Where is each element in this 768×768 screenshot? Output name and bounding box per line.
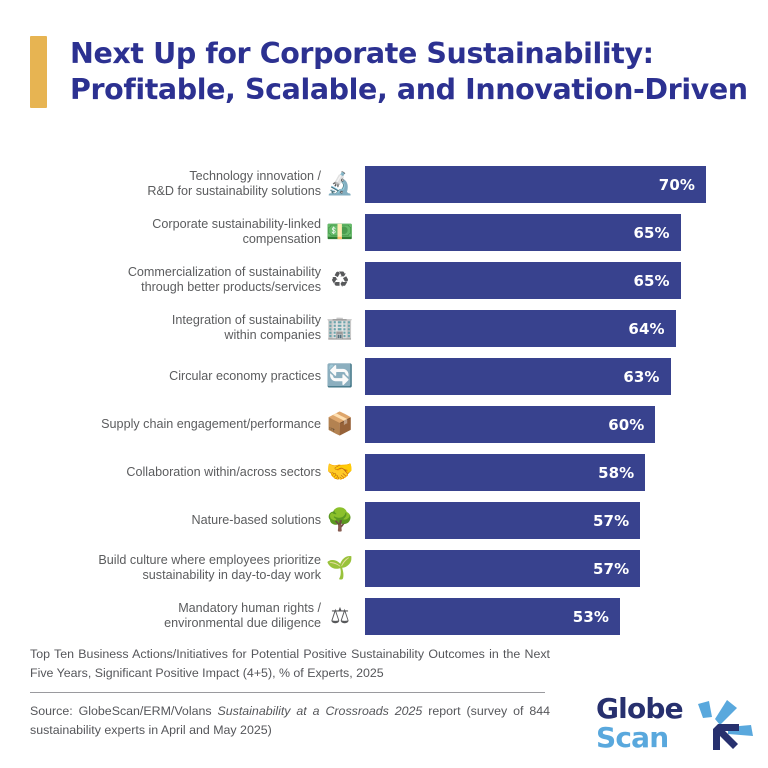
chart-bar-value: 65% [633,272,680,290]
title-block: Next Up for Corporate Sustainability: Pr… [30,36,750,108]
title-accent-bar [30,36,47,108]
source-report-title: Sustainability at a Crossroads 2025 [217,704,422,718]
chart-bar-track: 58% [365,454,768,491]
chart-row: Build culture where employees prioritize… [0,550,768,587]
logo-arrow-burst-icon [692,698,754,756]
chart-subtitle-note: Top Ten Business Actions/Initiatives for… [30,645,550,683]
chart-row: Technology innovation / R&D for sustaina… [0,166,768,203]
chart-bar[interactable]: 63% [365,358,671,395]
package-box-icon: 📦 [325,410,355,440]
logo-word-globe: Globe [596,694,683,723]
chart-row-label: Collaboration within/across sectors [51,465,321,481]
chart-row-label: Nature-based solutions [51,513,321,529]
chart-bar-track: 63% [365,358,768,395]
chart-bar-track: 60% [365,406,768,443]
chart-bar-value: 57% [593,560,640,578]
globescan-wordmark: Globe Scan [596,694,683,752]
bar-chart: Technology innovation / R&D for sustaina… [0,166,768,646]
seedling-icon: 🌱 [325,554,355,584]
chart-row: Integration of sustainability within com… [0,310,768,347]
chart-bar[interactable]: 53% [365,598,620,635]
chart-row: Supply chain engagement/performance📦60% [0,406,768,443]
chart-bar[interactable]: 57% [365,502,640,539]
page-title: Next Up for Corporate Sustainability: Pr… [70,36,748,108]
chart-bar[interactable]: 57% [365,550,640,587]
chart-bar[interactable]: 70% [365,166,706,203]
chart-row: Circular economy practices🔄63% [0,358,768,395]
chart-bar-value: 57% [593,512,640,530]
chart-row-label: Commercialization of sustainability thro… [51,265,321,297]
balance-scales-icon: ⚖ [325,602,355,632]
chart-bar-value: 60% [608,416,655,434]
chart-bar-track: 57% [365,502,768,539]
chart-bar-value: 64% [628,320,675,338]
chart-row: Collaboration within/across sectors🤝58% [0,454,768,491]
chart-row: Corporate sustainability-linked compensa… [0,214,768,251]
chart-bar-track: 57% [365,550,768,587]
microscope-icon: 🔬 [325,170,355,200]
tree-icon: 🌳 [325,506,355,536]
chart-bar-value: 58% [598,464,645,482]
circular-arrows-icon: 🔄 [325,362,355,392]
footer-divider [30,692,545,693]
chart-bar[interactable]: 58% [365,454,645,491]
chart-bar-track: 70% [365,166,768,203]
office-building-icon: 🏢 [325,314,355,344]
chart-bar[interactable]: 64% [365,310,676,347]
chart-bar-track: 65% [365,262,768,299]
chart-bar-value: 53% [573,608,620,626]
recycling-symbol-icon: ♻ [325,266,355,296]
globescan-logo[interactable]: Globe Scan [596,694,756,760]
source-note: Source: GlobeScan/ERM/Volans Sustainabil… [30,702,550,740]
source-prefix: Source: GlobeScan/ERM/Volans [30,704,217,718]
chart-bar-track: 65% [365,214,768,251]
logo-word-scan: Scan [596,723,683,752]
chart-row-label: Technology innovation / R&D for sustaina… [51,169,321,201]
chart-bar-value: 65% [633,224,680,242]
chart-bar[interactable]: 65% [365,262,681,299]
chart-bar-value: 70% [659,176,706,194]
chart-row-label: Supply chain engagement/performance [51,417,321,433]
chart-bar[interactable]: 65% [365,214,681,251]
chart-bar-value: 63% [623,368,670,386]
chart-row-label: Mandatory human rights / environmental d… [51,601,321,633]
chart-bar-track: 53% [365,598,768,635]
footer: Top Ten Business Actions/Initiatives for… [30,645,550,739]
chart-row: Commercialization of sustainability thro… [0,262,768,299]
chart-row: Nature-based solutions🌳57% [0,502,768,539]
page-title-line-1: Next Up for Corporate Sustainability: [70,36,748,72]
chart-bar-track: 64% [365,310,768,347]
money-banknote-icon: 💵 [325,218,355,248]
chart-row-label: Integration of sustainability within com… [51,313,321,345]
chart-row: Mandatory human rights / environmental d… [0,598,768,635]
chart-row-label: Corporate sustainability-linked compensa… [51,217,321,249]
chart-row-label: Circular economy practices [51,369,321,385]
handshake-icon: 🤝 [325,458,355,488]
chart-row-label: Build culture where employees prioritize… [51,553,321,585]
chart-bar[interactable]: 60% [365,406,655,443]
page-title-line-2: Profitable, Scalable, and Innovation-Dri… [70,72,748,108]
